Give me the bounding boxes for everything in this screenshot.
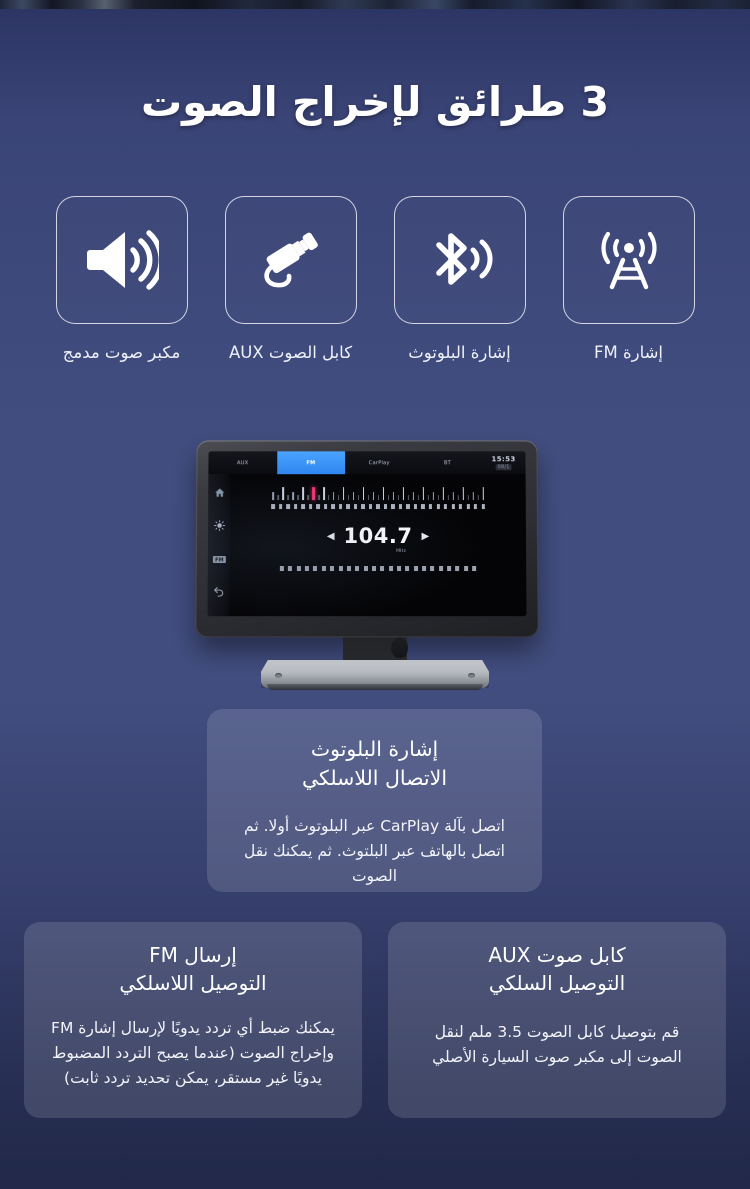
radio-frequency-row: ◀ 104.7 ▶ xyxy=(327,526,429,547)
info-card-fm-title-line1: إرسال FM xyxy=(46,941,340,969)
feature-speaker[interactable]: مكبر صوت مدمج xyxy=(56,196,188,364)
info-card-bluetooth-title-line1: إشارة البلوتوث xyxy=(233,735,516,764)
svg-text:FM: FM xyxy=(215,557,223,563)
feature-fm-label: إشارة FM xyxy=(594,342,663,364)
info-card-bluetooth-body: اتصل بآلة CarPlay عبر البلوتوث أولا. ثم … xyxy=(233,814,516,889)
feature-aux-label: كابل الصوت AUX xyxy=(229,342,352,364)
screen-tab-aux[interactable]: AUX xyxy=(208,451,276,474)
radio-tuner-marker xyxy=(312,487,314,500)
page-title: 3 طرائق لإخراج الصوت xyxy=(0,78,750,126)
feature-bluetooth-label: إشارة البلوتوث xyxy=(408,342,511,364)
device-illustration: 15:53 08/1 BT CarPlay FM AUX FM xyxy=(0,436,750,706)
device-stand-knob xyxy=(391,636,408,658)
speaker-wave-icon xyxy=(85,228,159,292)
info-card-aux-title-line2: التوصيل السلكي xyxy=(410,969,704,997)
info-card-fm-body: يمكنك ضبط أي تردد يدويًا لإرسال إشارة FM… xyxy=(46,1016,340,1091)
info-card-aux: كابل صوت AUX التوصيل السلكي قم بتوصيل كا… xyxy=(388,922,726,1118)
info-card-fm-title-line2: التوصيل اللاسلكي xyxy=(46,969,340,997)
frequency-unit: MHz xyxy=(396,549,406,554)
device-bezel: 15:53 08/1 BT CarPlay FM AUX FM xyxy=(195,440,538,637)
radio-tuner-scale[interactable] xyxy=(272,487,484,500)
radio-scale-numbers xyxy=(271,503,485,510)
feature-speaker-label: مكبر صوت مدمج xyxy=(63,342,181,364)
screen-clock-time: 15:53 xyxy=(491,455,515,463)
info-card-bluetooth: إشارة البلوتوث الاتصال اللاسلكي اتصل بآل… xyxy=(207,709,542,892)
bluetooth-signal-icon xyxy=(423,226,497,294)
brightness-icon[interactable] xyxy=(214,516,225,535)
home-icon[interactable] xyxy=(214,483,225,502)
screen-clock-date: 08/1 xyxy=(496,464,512,470)
aux-jack-plug-icon-box[interactable] xyxy=(225,196,357,324)
screen-tab-fm[interactable]: FM xyxy=(277,451,345,474)
device-stand-base-lip xyxy=(267,684,483,690)
screen-clock: 15:53 08/1 xyxy=(482,451,526,474)
audio-output-feature-row: مكبر صوت مدمج كابل الصوت AUX xyxy=(0,196,750,364)
radio-preset-list[interactable] xyxy=(280,565,476,571)
info-card-aux-body: قم بتوصيل كابل الصوت 3.5 ملم لنقل الصوت … xyxy=(410,1020,704,1070)
fm-antenna-tower-icon-box[interactable] xyxy=(563,196,695,324)
feature-fm[interactable]: إشارة FM xyxy=(563,196,695,364)
feature-aux[interactable]: كابل الصوت AUX xyxy=(225,196,357,364)
fm-antenna-tower-icon xyxy=(593,227,665,293)
info-card-fm: إرسال FM التوصيل اللاسلكي يمكنك ضبط أي ت… xyxy=(24,922,362,1118)
frequency-value: 104.7 xyxy=(344,526,413,547)
aux-jack-plug-icon xyxy=(253,226,329,294)
frequency-prev-button[interactable]: ◀ xyxy=(327,532,335,542)
speaker-wave-icon-box[interactable] xyxy=(56,196,188,324)
screen-tab-bar: 15:53 08/1 BT CarPlay FM AUX xyxy=(208,451,525,474)
device-screen[interactable]: 15:53 08/1 BT CarPlay FM AUX FM xyxy=(208,451,527,616)
feature-bluetooth[interactable]: إشارة البلوتوث xyxy=(394,196,526,364)
back-icon[interactable] xyxy=(213,582,225,601)
screen-tab-carplay[interactable]: CarPlay xyxy=(345,451,413,474)
info-card-aux-title-line1: كابل صوت AUX xyxy=(410,941,704,969)
frequency-next-button[interactable]: ▶ xyxy=(421,532,429,542)
info-card-bluetooth-title-line2: الاتصال اللاسلكي xyxy=(233,764,516,793)
screen-tab-bt[interactable]: BT xyxy=(413,451,481,474)
fm-icon[interactable]: FM xyxy=(212,549,225,568)
screen-side-rail: FM xyxy=(208,474,231,616)
bluetooth-signal-icon-box[interactable] xyxy=(394,196,526,324)
top-image-strip xyxy=(0,0,750,9)
screen-radio-panel: ◀ 104.7 ▶ MHz xyxy=(230,474,527,616)
